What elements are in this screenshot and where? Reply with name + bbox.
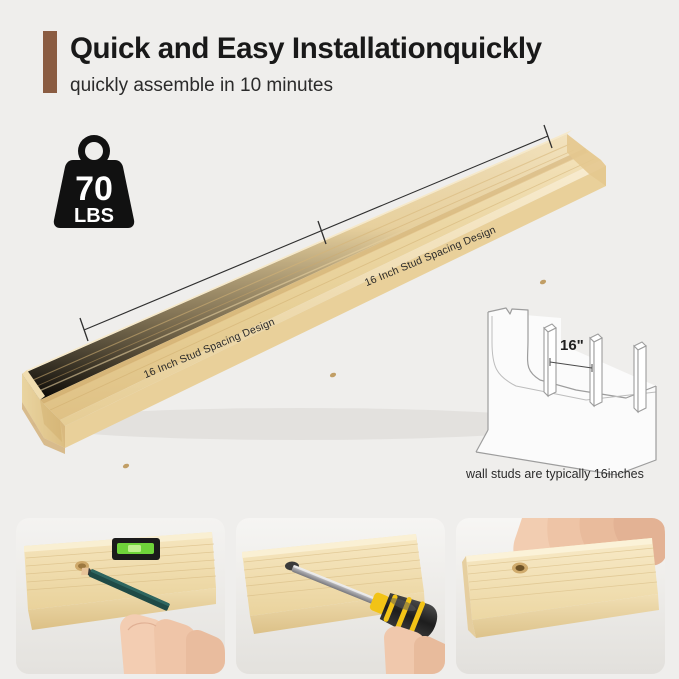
hero-section: 16 Inch Stud Spacing Design 16 Inch Stud… (0, 112, 679, 497)
step-photo-mark-with-pencil (16, 518, 225, 674)
header-section: Quick and Easy Installationquickly quick… (0, 0, 679, 115)
accent-bar (43, 31, 57, 93)
weight-value: 70 (75, 170, 113, 208)
page-subtitle: quickly assemble in 10 minutes (70, 73, 333, 98)
step-photo-mount-shelf (456, 518, 665, 674)
installation-steps-row (0, 518, 679, 674)
step-photo-drive-screw (236, 518, 445, 674)
wall-stud-diagram: 16" (466, 300, 671, 475)
weight-capacity-badge: 70 LBS (46, 132, 142, 234)
stud-diagram-caption: wall studs are typically 16inches (466, 467, 676, 481)
bubble-level-icon (112, 538, 160, 560)
weight-unit: LBS (74, 205, 114, 227)
page-title: Quick and Easy Installationquickly (70, 31, 542, 67)
stud-measure-label: 16" (560, 337, 584, 354)
